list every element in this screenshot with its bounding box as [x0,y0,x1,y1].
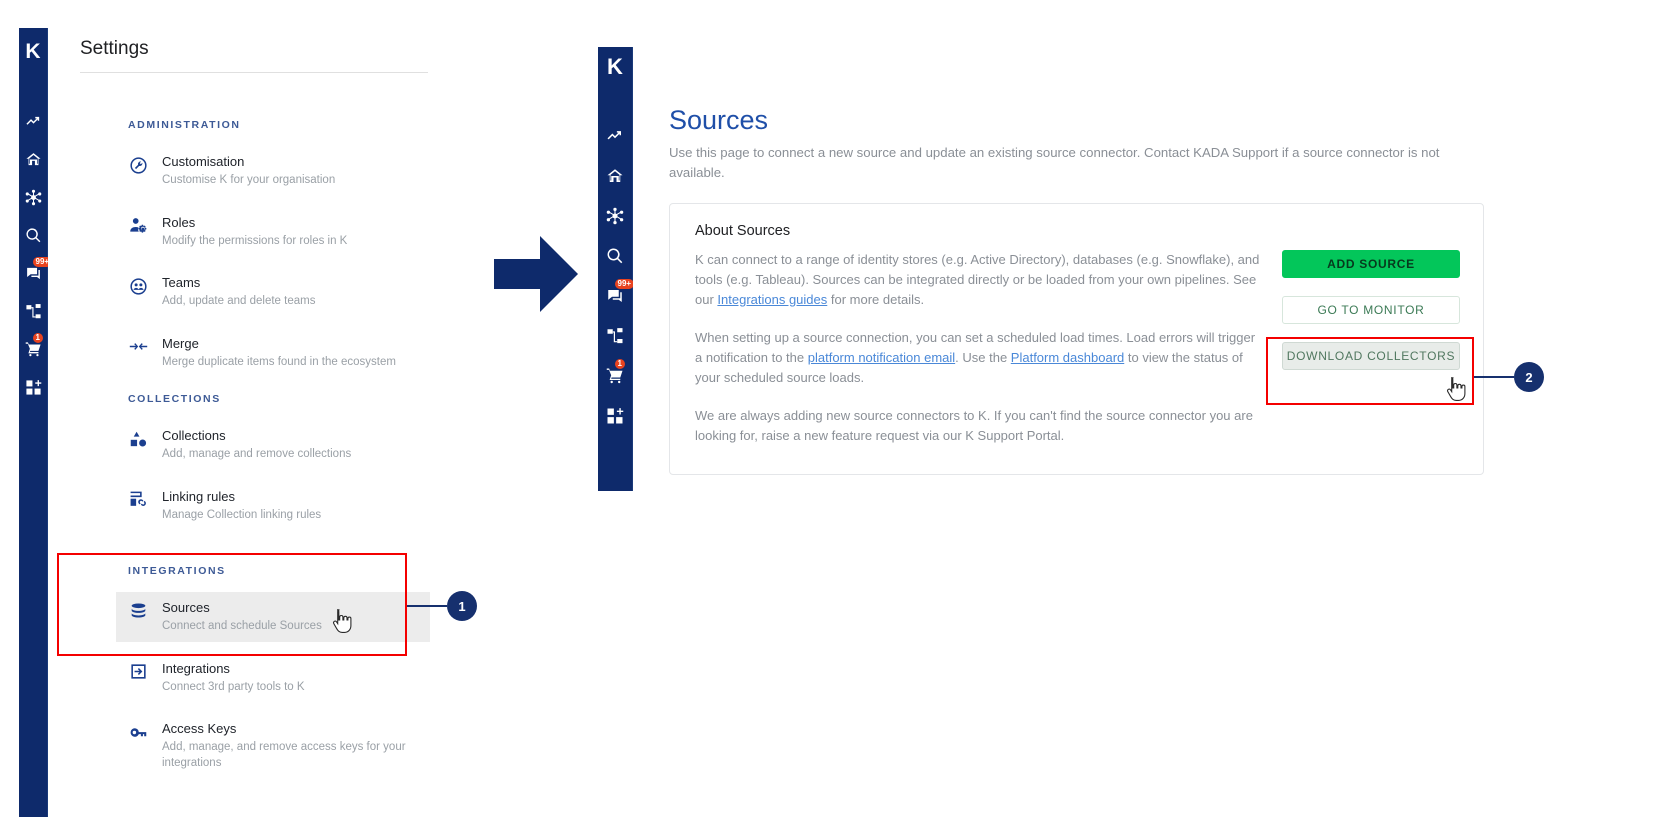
administration-menu-list: Customisation Customise K for your organ… [116,146,446,388]
about-p1-text-b: for more details. [827,292,924,307]
cart-icon[interactable]: 1 [19,330,48,368]
person-gear-icon [128,216,148,236]
teams-circle-icon [128,276,148,296]
highlight-box-download-collectors [1266,337,1474,405]
callout-step-1: 1 [447,591,477,621]
import-box-icon [128,662,148,682]
link-rules-icon [128,490,148,510]
sources-page-description: Use this page to connect a new source an… [669,143,1459,182]
primary-nav-rail[interactable]: K 99+ 1 [19,28,48,817]
menu-item-title: Merge [162,336,199,351]
menu-item-subtitle: Merge duplicate items found in the ecosy… [162,355,396,371]
hierarchy-icon[interactable] [598,316,633,356]
about-paragraph-1: K can connect to a range of identity sto… [695,250,1260,309]
menu-item-subtitle: Add, manage and remove collections [162,447,351,463]
network-icon[interactable] [19,178,48,216]
go-to-monitor-button[interactable]: GO TO MONITOR [1282,296,1460,324]
network-icon[interactable] [598,196,633,236]
search-icon[interactable] [19,216,48,254]
highlight-box-sources [57,553,407,656]
platform-notification-email-link[interactable]: platform notification email [808,350,955,365]
integrations-guides-link[interactable]: Integrations guides [717,292,827,307]
chat-badge: 99+ [615,279,635,289]
menu-item-collections[interactable]: Collections Add, manage and remove colle… [116,420,446,470]
menu-item-title: Collections [162,428,226,443]
home-icon[interactable] [19,140,48,178]
menu-item-merge[interactable]: Merge Merge duplicate items found in the… [116,328,446,378]
kada-logo[interactable]: K [25,41,40,62]
menu-item-access-keys[interactable]: Access Keys Add, manage, and remove acce… [116,713,430,778]
menu-item-title: Access Keys [162,721,236,736]
menu-item-teams[interactable]: Teams Add, update and delete teams [116,267,446,317]
menu-item-subtitle: Customise K for your organisation [162,173,335,189]
menu-item-customisation[interactable]: Customisation Customise K for your organ… [116,146,446,196]
collections-menu-list: Collections Add, manage and remove colle… [116,420,446,541]
menu-item-title: Roles [162,215,195,230]
shapes-icon [128,429,148,449]
menu-item-title: Teams [162,275,200,290]
menu-item-title: Integrations [162,661,230,676]
chat-icon[interactable]: 99+ [598,276,633,316]
group-label-administration: ADMINISTRATION [128,119,241,131]
cart-badge: 1 [615,359,625,369]
merge-arrows-icon [128,337,148,357]
menu-item-subtitle: Add, manage, and remove access keys for … [162,740,420,771]
search-icon[interactable] [598,236,633,276]
settings-panel: Settings ADMINISTRATION Customisation Cu… [48,0,568,817]
sources-page-title: Sources [669,105,768,136]
menu-item-subtitle: Add, update and delete teams [162,294,315,310]
hierarchy-icon[interactable] [19,292,48,330]
menu-item-linking-rules[interactable]: Linking rules Manage Collection linking … [116,481,446,531]
about-paragraph-3: We are always adding new source connecto… [695,406,1260,446]
menu-item-title: Customisation [162,154,244,169]
menu-item-title: Linking rules [162,489,235,504]
title-divider [80,72,428,73]
cart-icon[interactable]: 1 [598,356,633,396]
kada-logo[interactable]: K [607,56,623,78]
trend-icon[interactable] [598,116,633,156]
menu-item-subtitle: Manage Collection linking rules [162,508,321,524]
menu-item-integrations[interactable]: Integrations Connect 3rd party tools to … [116,653,430,703]
about-sources-title: About Sources [695,223,790,239]
secondary-nav-rail[interactable]: K 99+ 1 [598,47,633,491]
key-icon [128,722,148,742]
group-label-collections: COLLECTIONS [128,393,221,405]
home-icon[interactable] [598,156,633,196]
add-source-button[interactable]: ADD SOURCE [1282,250,1460,278]
chat-icon[interactable]: 99+ [19,254,48,292]
trend-icon[interactable] [19,102,48,140]
platform-dashboard-link[interactable]: Platform dashboard [1011,350,1124,365]
menu-item-subtitle: Connect 3rd party tools to K [162,680,305,696]
callout-connector-2 [1474,376,1514,378]
about-p2-text-b: . Use the [955,350,1011,365]
flow-arrow-icon [492,231,580,317]
wrench-circle-icon [128,155,148,175]
apps-icon[interactable] [598,396,633,436]
menu-item-roles[interactable]: Roles Modify the permissions for roles i… [116,207,446,257]
page-title: Settings [80,38,149,60]
about-paragraph-2: When setting up a source connection, you… [695,328,1260,387]
callout-step-2: 2 [1514,362,1544,392]
apps-icon[interactable] [19,368,48,406]
callout-connector-1 [407,605,447,607]
cart-badge: 1 [33,333,43,343]
menu-item-subtitle: Modify the permissions for roles in K [162,234,347,250]
sources-page: Sources Use this page to connect a new s… [633,0,1659,817]
